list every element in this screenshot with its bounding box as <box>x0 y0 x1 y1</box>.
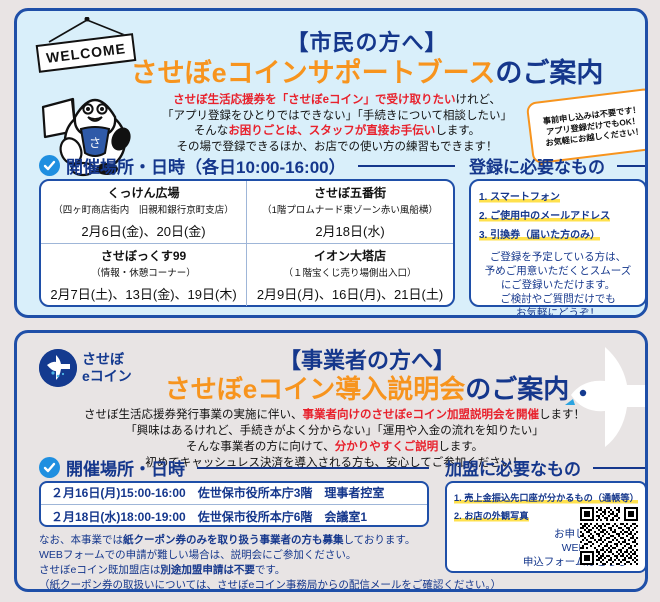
session-row: ２月18日(水)18:00-19:00 佐世保市役所本庁6階 会議室1 <box>41 504 427 528</box>
venue-dates: 2月7日(土)、13日(金)、19日(木) <box>50 284 236 303</box>
logo-circle-icon <box>39 349 77 387</box>
business-lead-line2: 「興味はあるけれど、手続きがよく分からない」「運用や入金の流れを知りたい」 <box>62 423 607 439</box>
need-item: 2. ご使用中のメールアドレス <box>479 207 610 222</box>
join-item: 1. 売上金振込先口座が分かるもの（通帳等） <box>454 490 638 504</box>
footnote1-pre: なお、本事業では <box>39 534 123 546</box>
business-lead-line3: そんな事業者の方に向けて、分かりやすくご説明します。 <box>62 439 607 455</box>
venue-cell: させぼっくす99 （情報・休憩コーナー） 2月7日(土)、13日(金)、19日(… <box>41 244 247 306</box>
business-lead-line1: させぼ生活応援券発行事業の実施に伴い、事業者向けのさせぼeコイン加盟説明会を開催… <box>62 407 607 423</box>
lead-line3-tail: します。 <box>435 125 480 137</box>
footnote-2: WEBフォームでの申請が難しい場合は、説明会にご参加ください。 <box>39 548 459 563</box>
lead-line3-pre: そんな <box>194 125 229 137</box>
join-item: 2. お店の外観写真 <box>454 508 529 522</box>
business-title-orange: させぼeコイン導入説明会 <box>165 374 465 404</box>
venue-dates: 2月18日(水) <box>315 221 384 240</box>
venue-name: イオン大塔店 <box>314 247 386 264</box>
b-lead3-tail: します。 <box>438 441 483 453</box>
check-circle-icon <box>39 457 60 478</box>
join-requirements-card: 1. 売上金振込先口座が分かるもの（通帳等） 2. お店の外観写真 お申し込みは… <box>445 481 647 573</box>
venue-sub: （四ヶ町商店街内 旧親和銀行京町支店） <box>53 202 234 216</box>
citizen-venue-band-label: 開催場所・日時（各日10:00-16:00） <box>66 153 346 178</box>
registration-need-band: 登録に必要なもの <box>469 153 647 178</box>
footnote-3: させぼeコイン既加盟店は別途加盟申請は不要です。 <box>39 563 459 578</box>
business-title-blue: のご案内 <box>465 374 569 404</box>
band-rule <box>593 467 647 469</box>
b-lead1-tail: します！ <box>539 409 585 421</box>
footnote3-bold: 別途加盟申請は不要 <box>160 564 255 576</box>
lead-line3-red: お困りごとは、スタッフが直接お手伝い <box>228 125 435 137</box>
citizen-lead-line2: 「アプリ登録をひとりではできない」「手続きについて相談したい」 <box>127 109 547 125</box>
join-need-band: 加盟に必要なもの <box>445 455 647 480</box>
footnote-4: （紙クーポン券の取扱いについては、させぼeコイン事務局からの配信メールをご確認く… <box>39 578 459 592</box>
citizen-section: WELCOME さ 【市民の方へ】 <box>14 8 648 318</box>
svg-text:さ: さ <box>89 136 101 150</box>
footnote3-tail: です。 <box>255 564 285 576</box>
venue-name: させぼ五番街 <box>314 184 386 201</box>
business-footnotes: なお、本事業では紙クーポン券のみを取り扱う事業者の方も募集しております。 WEB… <box>39 533 459 592</box>
business-section: させぼ eコイン 【事業者の方へ】 させぼeコイン導入説明会のご案内 させぼ生活… <box>14 330 648 592</box>
footnote-1: なお、本事業では紙クーポン券のみを取り扱う事業者の方も募集しております。 <box>39 533 459 548</box>
band-rule <box>617 165 647 167</box>
b-lead1-pre: させぼ生活応援券発行事業の実施に伴い、 <box>84 409 303 421</box>
business-venue-band: 開催場所・日時 <box>39 455 429 480</box>
citizen-title: させぼeコインサポートブースのご案内 <box>127 51 607 90</box>
note-line: にご登録いただけます。 <box>479 278 637 292</box>
note-line: 予めご用意いただくとスムーズ <box>479 264 637 278</box>
need-item: 3. 引換券（届いた方のみ） <box>479 226 600 241</box>
citizen-lead-line1: させぼ生活応援券を「させぼeコイン」で受け取りたいけれど、 <box>127 93 547 109</box>
citizen-lead-line3: そんなお困りごとは、スタッフが直接お手伝いします。 <box>127 124 547 140</box>
venue-name: くっけん広場 <box>107 184 179 201</box>
need-item: 1. スマートフォン <box>479 188 560 203</box>
footnote1-tail: しております。 <box>344 534 416 546</box>
logo-line-1: させぼ <box>82 351 132 368</box>
venue-cell: させぼ五番街 （1階プロムナード東ゾーン赤い風船横） 2月18日(水) <box>247 181 453 244</box>
venue-sub: （１階宝くじ売り場側出入口） <box>283 265 416 279</box>
note-line: お気軽にどうぞ！ <box>479 306 637 318</box>
venue-sub: （情報・休憩コーナー） <box>91 265 196 279</box>
b-lead3-red: 分かりやすくご説明 <box>335 441 439 453</box>
application-form-qr-code[interactable] <box>580 507 638 565</box>
join-need-label: 加盟に必要なもの <box>445 455 581 480</box>
footnote3-pre: させぼeコイン既加盟店は <box>39 564 160 576</box>
session-table: ２月16日(月)15:00-16:00 佐世保市役所本庁3階 理事者控室 ２月1… <box>39 481 429 527</box>
venue-cell: イオン大塔店 （１階宝くじ売り場側出入口） 2月9日(月)、16日(月)、21日… <box>247 244 453 306</box>
citizen-title-orange: させぼeコインサポートブース <box>131 58 496 88</box>
venue-dates: 2月6日(金)、20日(金) <box>81 221 205 240</box>
note-line: ご検討やご質問だけでも <box>479 292 637 306</box>
flyer-page: WELCOME さ 【市民の方へ】 <box>0 0 660 602</box>
b-lead3-pre: そんな事業者の方に向けて、 <box>186 441 335 453</box>
check-circle-icon <box>39 155 60 176</box>
note-line: ご登録を予定している方は、 <box>479 250 637 264</box>
venue-cell: くっけん広場 （四ヶ町商店街内 旧親和銀行京町支店） 2月6日(金)、20日(金… <box>41 181 247 244</box>
b-lead1-red: 事業者向けのさせぼeコイン加盟説明会を開催 <box>303 409 539 421</box>
citizen-venue-band: 開催場所・日時（各日10:00-16:00） <box>39 153 455 178</box>
business-title: させぼeコイン導入説明会のご案内 <box>117 369 617 406</box>
band-rule <box>358 165 455 167</box>
lead-line1-tail: けれど、 <box>455 94 500 106</box>
registration-note: ご登録を予定している方は、 予めご用意いただくとスムーズ にご登録いただけます。… <box>479 250 637 318</box>
venue-table: くっけん広場 （四ヶ町商店街内 旧親和銀行京町支店） 2月6日(金)、20日(金… <box>39 179 455 307</box>
registration-requirements-card: 1. スマートフォン 2. ご使用中のメールアドレス 3. 引換券（届いた方のみ… <box>469 179 647 307</box>
lead-line1-red: させぼ生活応援券を「させぼeコイン」で受け取りたい <box>173 94 455 106</box>
venue-sub: （1階プロムナード東ゾーン赤い風船横） <box>262 202 438 216</box>
venue-dates: 2月9日(月)、16日(月)、21日(土) <box>257 284 443 303</box>
citizen-title-blue: のご案内 <box>495 58 603 88</box>
business-venue-band-label: 開催場所・日時 <box>66 455 185 480</box>
venue-name: させぼっくす99 <box>101 247 186 264</box>
footnote1-bold: 紙クーポン券のみを取り扱う事業者の方も募集 <box>123 534 344 546</box>
band-rule <box>197 467 429 469</box>
bubble-tail-fill <box>535 146 554 162</box>
session-row: ２月16日(月)15:00-16:00 佐世保市役所本庁3階 理事者控室 <box>41 481 427 504</box>
citizen-lead-paragraph: させぼ生活応援券を「させぼeコイン」で受け取りたいけれど、 「アプリ登録をひとり… <box>127 93 547 155</box>
